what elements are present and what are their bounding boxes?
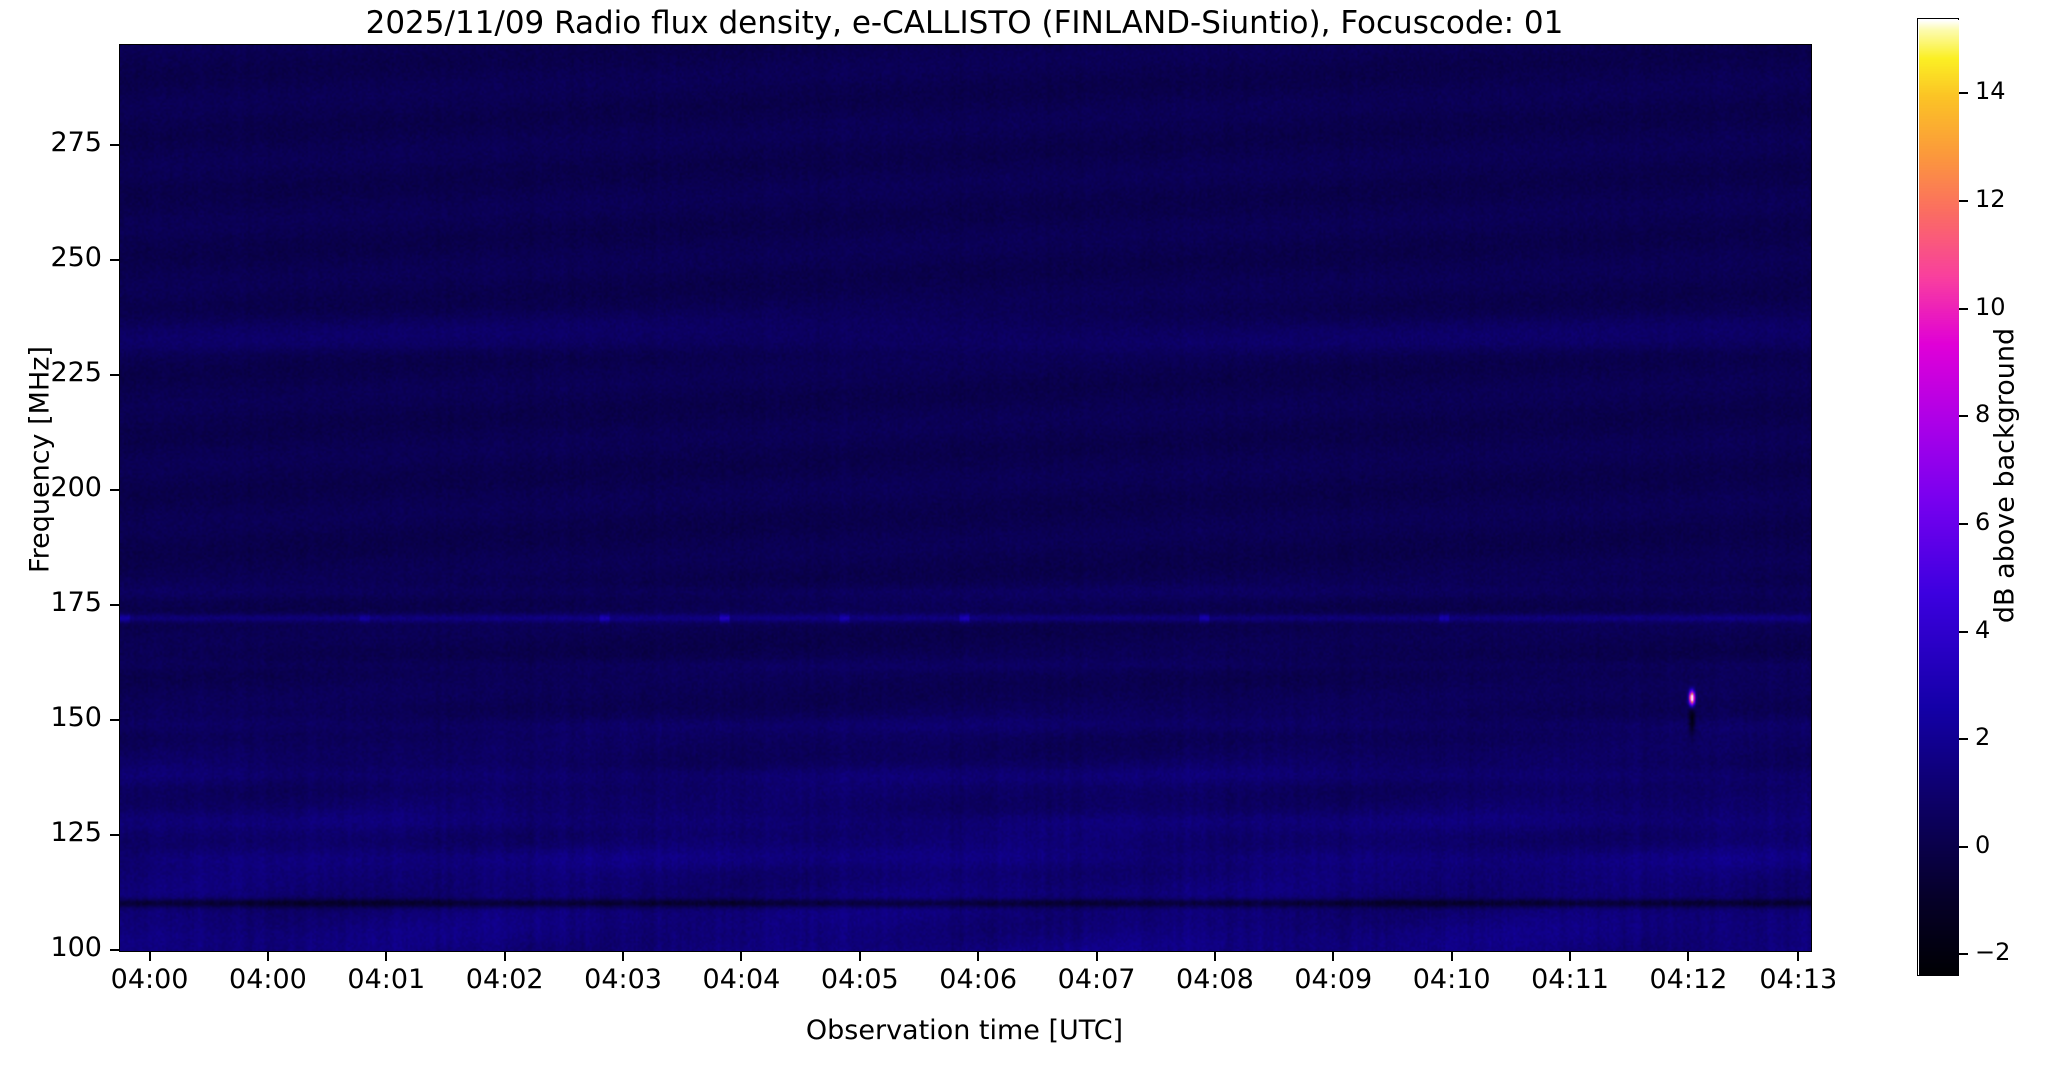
colorbar-canvas: [1919, 20, 1959, 976]
y-tick-label: 175: [50, 587, 102, 618]
y-tick-mark: [110, 834, 119, 836]
x-tick-mark: [267, 952, 269, 961]
x-tick-label: 04:01: [324, 964, 448, 995]
x-tick-mark: [149, 952, 151, 961]
colorbar-tick-mark: [1959, 415, 1968, 417]
y-tick-mark: [110, 489, 119, 491]
x-tick-label: 04:11: [1508, 964, 1632, 995]
y-tick-label: 125: [50, 817, 102, 848]
y-tick-mark: [110, 949, 119, 951]
x-tick-label: 04:05: [798, 964, 922, 995]
colorbar-gradient[interactable]: [1917, 18, 1959, 976]
x-tick-mark: [1687, 952, 1689, 961]
x-tick-mark: [1332, 952, 1334, 961]
y-tick-label: 250: [50, 242, 102, 273]
x-tick-label: 04:09: [1271, 964, 1395, 995]
x-axis: 04:0004:0004:0104:0204:0304:0404:0504:06…: [119, 952, 1812, 1012]
colorbar-tick-label: 6: [1975, 508, 1990, 536]
colorbar-tick-mark: [1959, 200, 1968, 202]
x-tick-mark: [385, 952, 387, 961]
x-tick-label: 04:06: [916, 964, 1040, 995]
x-tick-label: 04:08: [1153, 964, 1277, 995]
y-tick-mark: [110, 144, 119, 146]
x-tick-mark: [1569, 952, 1571, 961]
y-tick-label: 100: [50, 932, 102, 963]
colorbar-label: dB above background: [1990, 236, 2021, 716]
colorbar-tick-label: 0: [1975, 831, 1990, 859]
x-tick-label: 04:07: [1035, 964, 1159, 995]
x-tick-mark: [1096, 952, 1098, 961]
spectrogram-canvas[interactable]: [120, 45, 1811, 951]
x-tick-mark: [1797, 952, 1799, 961]
y-tick-label: 150: [50, 702, 102, 733]
y-tick-mark: [110, 374, 119, 376]
x-tick-mark: [622, 952, 624, 961]
page-title: 2025/11/09 Radio flux density, e-CALLIST…: [119, 6, 1810, 40]
colorbar-tick-mark: [1959, 738, 1968, 740]
x-tick-label: 04:12: [1626, 964, 1750, 995]
colorbar-tick-label: 12: [1975, 185, 2006, 213]
colorbar-tick-mark: [1959, 846, 1968, 848]
x-tick-mark: [1451, 952, 1453, 961]
x-tick-label: 04:10: [1390, 964, 1514, 995]
y-axis: Frequency [MHz] 275250225200175150125100: [0, 44, 119, 952]
y-tick-mark: [110, 719, 119, 721]
x-tick-label: 04:03: [561, 964, 685, 995]
y-tick-label: 225: [50, 357, 102, 388]
x-tick-mark: [977, 952, 979, 961]
colorbar-tick-mark: [1959, 953, 1968, 955]
x-tick-mark: [740, 952, 742, 961]
colorbar-tick-mark: [1959, 308, 1968, 310]
x-axis-label: Observation time [UTC]: [119, 1015, 1810, 1046]
colorbar-tick-mark: [1959, 631, 1968, 633]
x-tick-mark: [859, 952, 861, 961]
x-tick-mark: [504, 952, 506, 961]
x-tick-mark: [1214, 952, 1216, 961]
x-tick-label: 04:13: [1736, 964, 1860, 995]
y-tick-mark: [110, 604, 119, 606]
x-tick-label: 04:02: [443, 964, 567, 995]
x-tick-label: 04:00: [206, 964, 330, 995]
y-axis-label: Frequency [MHz]: [25, 200, 56, 720]
y-tick-label: 200: [50, 472, 102, 503]
colorbar-tick-mark: [1959, 523, 1968, 525]
colorbar-tick-label: −2: [1975, 938, 2010, 966]
spectrogram-plot[interactable]: [119, 44, 1812, 952]
figure-root: 2025/11/09 Radio flux density, e-CALLIST…: [0, 0, 2066, 1067]
x-tick-label: 04:04: [679, 964, 803, 995]
y-tick-mark: [110, 259, 119, 261]
colorbar-tick-mark: [1959, 92, 1968, 94]
colorbar-tick-label: 8: [1975, 400, 1990, 428]
x-tick-label: 04:00: [88, 964, 212, 995]
colorbar: 14121086420−2 dB above background: [1917, 18, 2066, 1018]
colorbar-tick-label: 4: [1975, 616, 1990, 644]
y-tick-label: 275: [50, 127, 102, 158]
colorbar-tick-label: 2: [1975, 723, 1990, 751]
colorbar-tick-label: 14: [1975, 77, 2006, 105]
